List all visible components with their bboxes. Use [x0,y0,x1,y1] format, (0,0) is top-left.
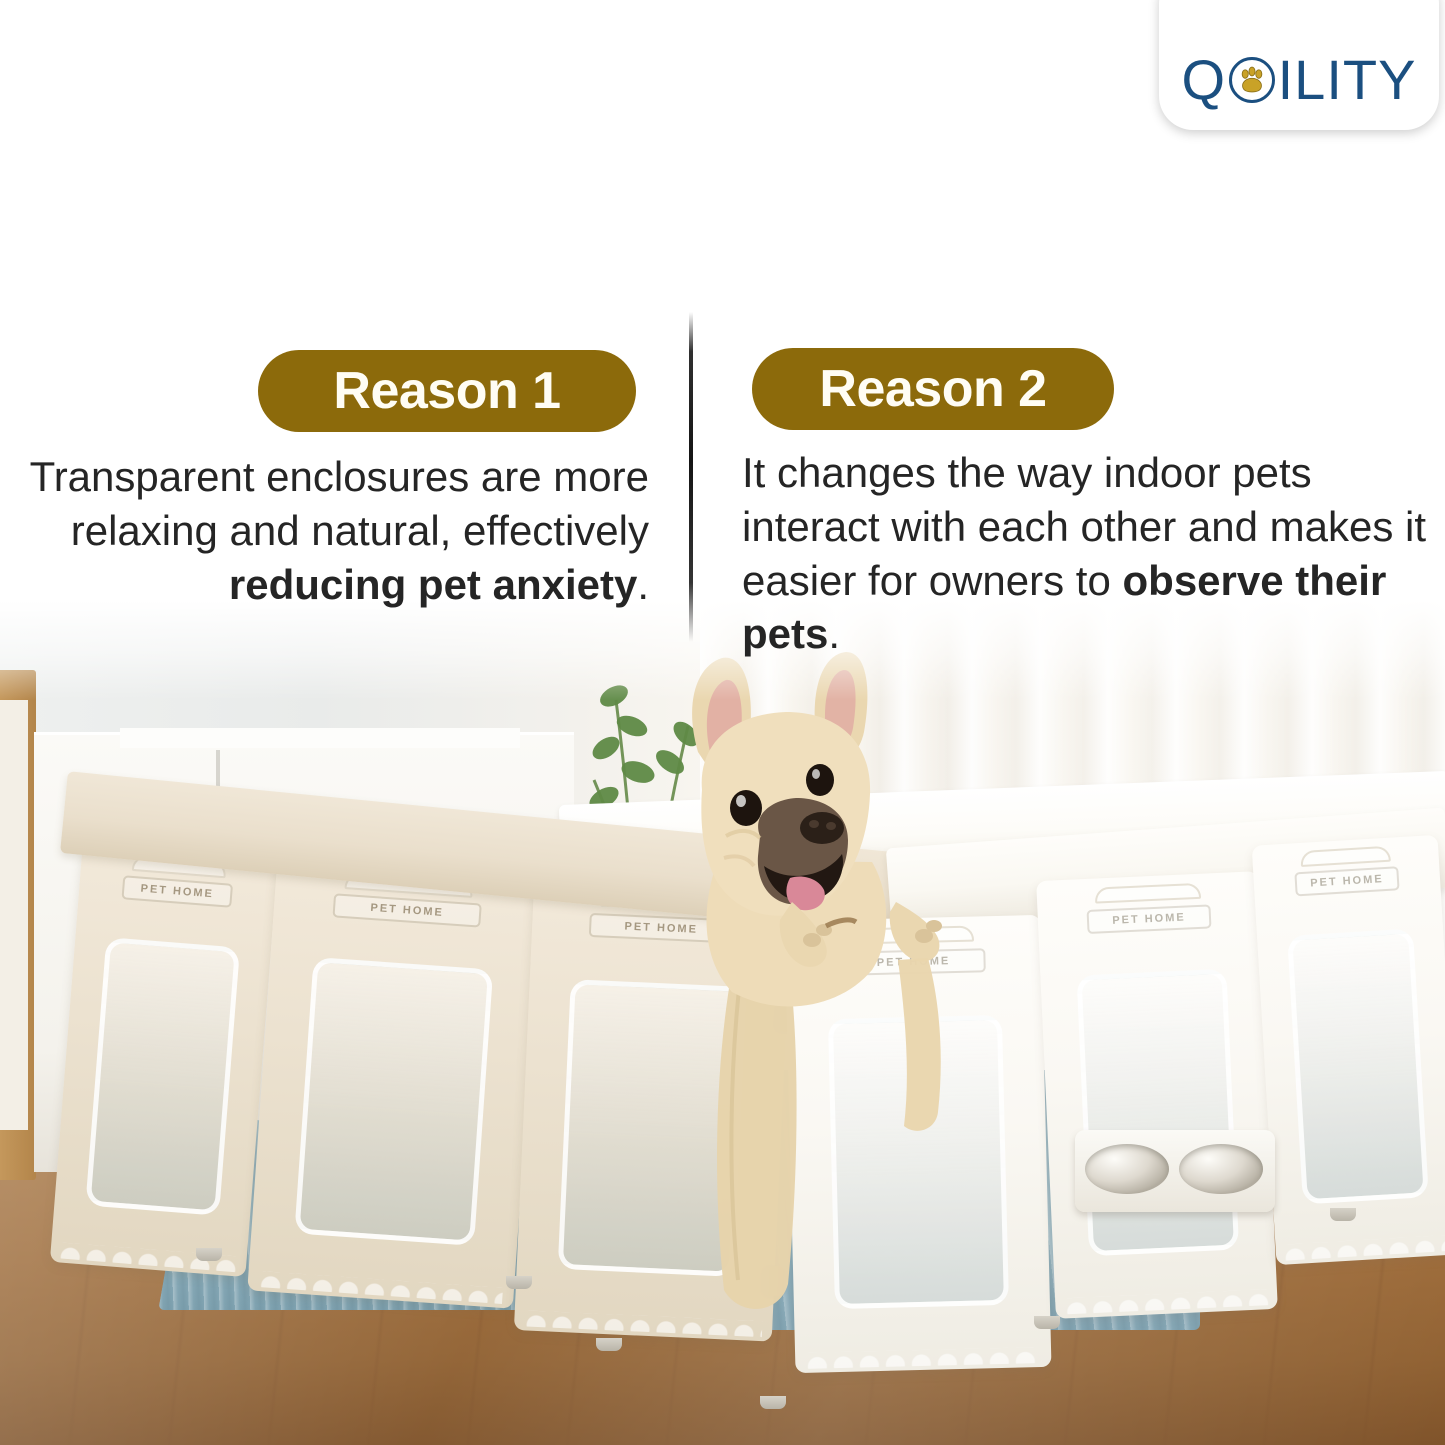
pet-home-label-6: PET HOME [1294,867,1399,897]
brand-logo[interactable]: Q ILI [1159,0,1439,130]
pet-playpen: PET HOME PET HOME PET HOME [0,600,1445,1445]
pen-panel-5[interactable]: PET HOME [1036,871,1278,1319]
pen-foot-1 [196,1248,222,1261]
panel-scallop-5 [1064,1289,1269,1314]
french-bulldog [640,640,1060,1340]
product-photo: PET HOME PET HOME PET HOME [0,600,1445,1445]
panel-clear-window-5 [1076,969,1240,1256]
pen-foot-4 [760,1396,786,1409]
reason-2-badge: Reason 2 [752,348,1114,430]
feeding-station-tray [1075,1130,1275,1212]
reason-1-badge: Reason 1 [258,350,636,432]
pet-home-label-2: PET HOME [332,893,482,927]
panel-clear-window-1 [86,938,240,1216]
pen-foot-3 [596,1338,622,1351]
panel-scallop-4 [805,1347,1041,1369]
reason-2-text: It changes the way indoor pets interact … [742,446,1442,661]
pen-foot-6 [1330,1208,1356,1221]
reason-1-emphasis: reducing pet anxiety [229,561,637,608]
pen-panel-6[interactable]: PET HOME [1252,835,1445,1265]
pen-foot-2 [506,1276,532,1289]
reason-2-tail: . [828,610,840,657]
pen-panel-2[interactable]: PET HOME [247,859,542,1309]
logo-letter-o [1227,55,1277,105]
reason-1-lead: Transparent enclosures are more relaxing… [30,453,649,554]
logo-wordmark: Q ILI [1182,52,1417,108]
logo-letter-q: Q [1182,52,1226,108]
paw-icon [1235,63,1269,97]
pet-home-label-1: PET HOME [122,876,233,909]
panel-scallop-6 [1283,1235,1445,1261]
panel-clear-window-2 [294,957,494,1245]
water-bowl-right [1179,1144,1263,1194]
pen-panel-1[interactable]: PET HOME [50,843,278,1277]
panel-arch-5 [1094,883,1201,904]
infographic-root: PET HOME PET HOME PET HOME [0,0,1445,1445]
column-divider [689,312,693,642]
pet-home-label-5: PET HOME [1086,904,1211,934]
reason-1-tail: . [637,561,649,608]
logo-letters-ility: ILITY [1278,52,1417,108]
food-bowl-left [1085,1144,1169,1194]
reason-1-text: Transparent enclosures are more relaxing… [24,450,649,611]
panel-arch-6 [1300,846,1390,867]
panel-clear-window-6 [1287,929,1429,1205]
